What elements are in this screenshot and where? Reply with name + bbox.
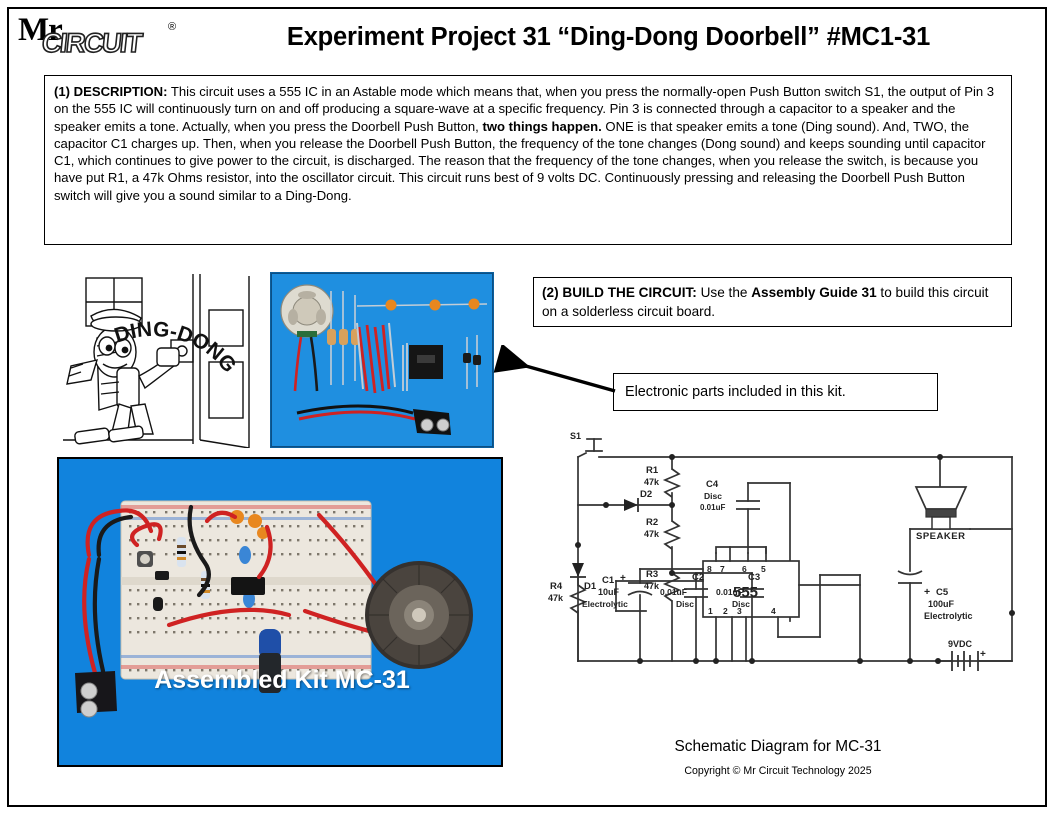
label-r3-value: 47k	[644, 581, 660, 591]
label-c2-ref: C2	[692, 572, 704, 583]
build-part-1: Use the	[697, 285, 751, 300]
parts-kit-photo	[270, 272, 494, 448]
description-text: (1) DESCRIPTION: This circuit uses a 555…	[54, 83, 1002, 204]
label-c5-polarity: +	[924, 586, 930, 598]
label-battery: 9VDC	[948, 639, 973, 649]
logo-circuit-text: CIRCUIT	[41, 30, 143, 57]
assembled-kit-photo: Assembled Kit MC-31	[57, 457, 503, 767]
label-r2-ref: R2	[646, 517, 658, 528]
schematic-caption: Schematic Diagram for MC-31	[520, 738, 1036, 756]
label-ic-pin-2: 2	[723, 606, 728, 616]
diode-symbols	[570, 498, 638, 577]
speaker	[365, 561, 473, 669]
label-c1-ref: C1	[602, 575, 615, 586]
label-c4-value: 0.01uF	[700, 503, 725, 512]
label-s1: S1	[570, 431, 581, 441]
build-the-circuit-text: (2) BUILD THE CIRCUIT: Use the Assembly …	[542, 283, 1003, 321]
assembled-kit-svg	[59, 459, 501, 765]
schematic-diagram: S1 R1 47k R2 47k R3 47k R4 47k D2 D1 C1 …	[520, 425, 1036, 725]
doorbell-cartoon-illustration: DING-DONG!	[57, 272, 253, 448]
label-ic-pin-4: 4	[771, 606, 776, 616]
label-r1-value: 47k	[644, 477, 660, 487]
mr-circuit-logo: Mr CIRCUIT ®	[16, 13, 188, 61]
assembled-kit-caption: Assembled Kit MC-31	[59, 666, 503, 695]
experiment-project-sheet: Mr CIRCUIT ® Experiment Project 31 “Ding…	[0, 0, 1056, 816]
parts-photo-svg	[271, 273, 493, 447]
build-the-circuit-box: (2) BUILD THE CIRCUIT: Use the Assembly …	[533, 277, 1012, 327]
label-r2-value: 47k	[644, 529, 660, 539]
speaker-symbol	[916, 487, 966, 529]
label-c2-type: Disc	[676, 599, 694, 609]
label-c5-ref: C5	[936, 587, 949, 598]
description-bold-phrase: two things happen.	[482, 119, 601, 134]
label-battery-polarity: +	[980, 649, 986, 660]
label-c2-value: 0.01uF	[660, 587, 687, 597]
label-c1-value: 10uF	[598, 587, 620, 597]
label-c4-ref: C4	[706, 479, 719, 490]
label-ic-pin-5: 5	[761, 564, 766, 574]
label-ic-pin-1: 1	[708, 606, 713, 616]
label-c3-ref: C3	[748, 572, 760, 583]
label-r4-ref: R4	[550, 581, 563, 592]
callout-arrow	[489, 345, 619, 397]
copyright-notice: Copyright © Mr Circuit Technology 2025	[520, 765, 1036, 777]
schematic-svg: S1 R1 47k R2 47k R3 47k R4 47k D2 D1 C1 …	[520, 425, 1036, 725]
label-ic-555: 555	[733, 584, 758, 601]
label-r1-ref: R1	[646, 465, 659, 476]
parts-callout-box: Electronic parts included in this kit.	[613, 373, 938, 411]
callout-arrow-svg	[489, 345, 619, 397]
build-label: (2) BUILD THE CIRCUIT:	[542, 285, 697, 300]
assembly-guide-reference: Assembly Guide 31	[751, 285, 876, 300]
registered-trademark-icon: ®	[168, 21, 176, 33]
label-speaker: SPEAKER	[916, 531, 965, 542]
label-c5-value: 100uF	[928, 599, 955, 609]
label-d2: D2	[640, 489, 652, 500]
cartoon-svg: DING-DONG!	[57, 272, 253, 448]
label-c4-type: Disc	[704, 491, 722, 501]
label-c5-type: Electrolytic	[924, 611, 973, 621]
label-ic-pin-7: 7	[720, 564, 725, 574]
page-title: Experiment Project 31 “Ding-Dong Doorbel…	[188, 23, 1045, 52]
description-box: (1) DESCRIPTION: This circuit uses a 555…	[44, 75, 1012, 245]
label-r4-value: 47k	[548, 593, 564, 603]
junction-dots	[575, 454, 1015, 664]
cartoon-sound-text: DING-DONG!	[57, 272, 241, 377]
label-ic-pin-8: 8	[707, 564, 712, 574]
parts-callout-text: Electronic parts included in this kit.	[625, 384, 846, 400]
label-d1: D1	[584, 581, 597, 592]
label-ic-pin-6: 6	[742, 564, 747, 574]
label-c1-type: Electrolytic	[582, 599, 628, 609]
label-ic-pin-3: 3	[737, 606, 742, 616]
page-header: Mr CIRCUIT ® Experiment Project 31 “Ding…	[9, 9, 1045, 65]
label-r3-ref: R3	[646, 569, 658, 580]
description-label: (1) DESCRIPTION:	[54, 84, 167, 99]
label-c1-polarity: +	[620, 573, 626, 584]
